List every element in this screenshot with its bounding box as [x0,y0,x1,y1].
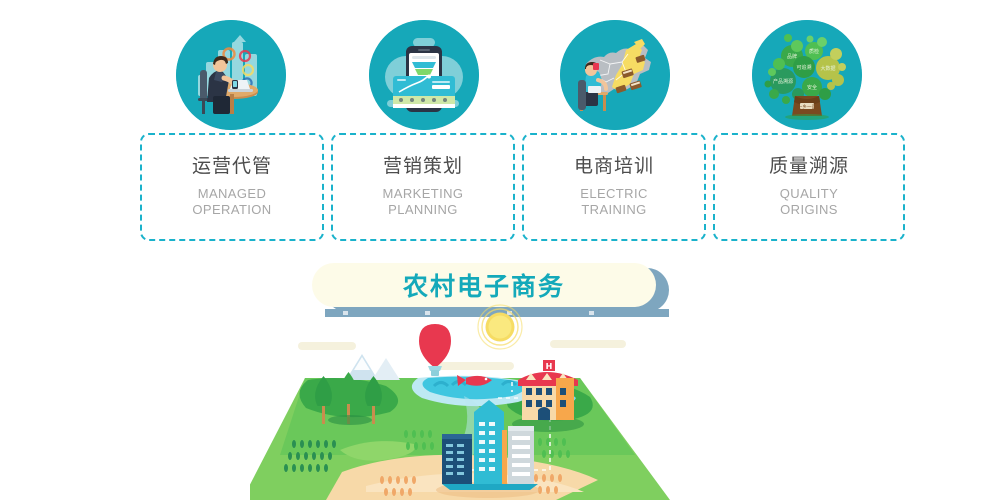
icon-row: 品牌 质检 可追溯 大数据 产品溯源 安全 一乡一品 [0,0,1000,135]
card-title-cn: 电商培训 [574,157,654,176]
card-en-line1: MARKETING [383,186,464,202]
feature-cards: 运营代管 MANAGED OPERATION 营销策划 MARKETING PL… [0,133,1000,245]
card-en-line2: ORIGINS [780,202,838,218]
infographic-stage: 品牌 质检 可追溯 大数据 产品溯源 安全 一乡一品 运营代管 MANAGED [0,0,1000,500]
feature-card-quality-origins[interactable]: 质量溯源 QUALITY ORIGINS [713,133,905,241]
electric-training-icon [560,20,670,130]
sun-glyph [478,305,522,349]
card-title-en: MARKETING PLANNING [383,186,464,218]
svg-text:可追溯: 可追溯 [796,64,811,71]
feature-card-managed-operation[interactable]: 运营代管 MANAGED OPERATION [140,133,324,241]
svg-text:品牌: 品牌 [787,53,797,60]
card-title-cn: 质量溯源 [769,157,849,176]
banner-title: 农村电子商务 [403,267,565,303]
land-mass: H [250,354,670,500]
svg-text:一乡一品: 一乡一品 [798,104,817,110]
card-title-en: ELECTRIC TRAINING [580,186,648,218]
card-en-line1: QUALITY [780,186,838,202]
marketing-planning-icon [369,20,479,130]
svg-text:大数据: 大数据 [820,65,835,72]
card-title-en: QUALITY ORIGINS [780,186,838,218]
feature-card-marketing-planning[interactable]: 营销策划 MARKETING PLANNING [331,133,515,241]
card-en-line2: OPERATION [192,202,271,218]
svg-text:安全: 安全 [807,84,817,91]
hospital-building: H [512,360,584,432]
card-title-en: MANAGED OPERATION [192,186,271,218]
rural-landscape-scene: H [250,300,750,500]
card-title-cn: 运营代管 [192,157,272,176]
mountain-shapes [346,354,400,380]
card-en-line2: TRAINING [580,202,648,218]
feature-card-electric-training[interactable]: 电商培训 ELECTRIC TRAINING [522,133,706,241]
quality-origins-icon: 品牌 质检 可追溯 大数据 产品溯源 安全 一乡一品 [752,20,862,130]
svg-text:质检: 质检 [809,48,819,55]
card-title-cn: 营销策划 [383,157,463,176]
card-en-line1: MANAGED [192,186,271,202]
managed-operation-icon [176,20,286,130]
svg-text:H: H [546,362,553,371]
card-en-line2: PLANNING [383,202,464,218]
card-en-line1: ELECTRIC [580,186,648,202]
svg-text:产品溯源: 产品溯源 [773,78,793,85]
